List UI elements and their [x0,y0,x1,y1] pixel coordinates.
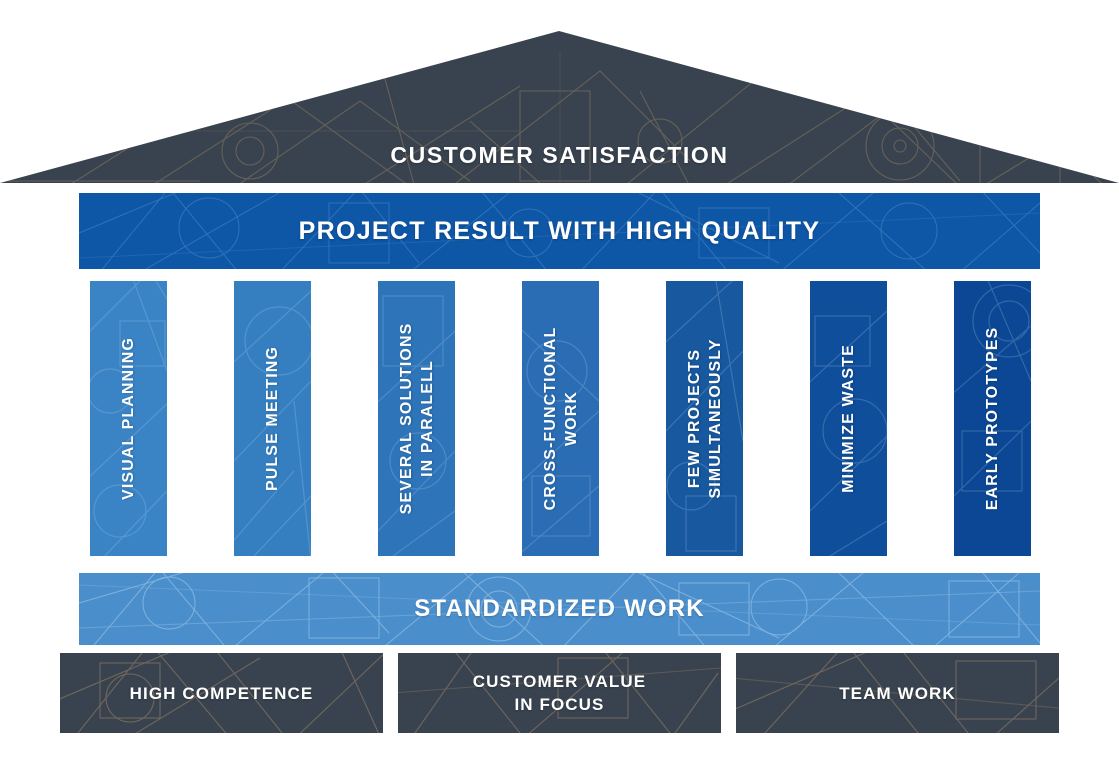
pillar-label: FEW PROJECTS SIMULTANEOUSLY [666,281,743,556]
foundation-block-1[interactable]: HIGH COMPETENCE [60,653,383,733]
pillar-label: VISUAL PLANNING [90,281,167,556]
base-band[interactable]: STANDARDIZED WORK [79,573,1040,645]
roof-shape: CUSTOMER SATISFACTION [0,31,1119,183]
foundation-label: CUSTOMER VALUE IN FOCUS [398,653,721,733]
roof-label: CUSTOMER SATISFACTION [0,141,1119,169]
foundation-label: HIGH COMPETENCE [60,653,383,733]
pillar-2[interactable]: PULSE MEETING [234,281,311,556]
foundation-group: HIGH COMPETENCECUSTOMER VALUE IN FOCUSTE… [60,653,1059,733]
base-band-label: STANDARDIZED WORK [79,573,1040,645]
pillar-label: PULSE MEETING [234,281,311,556]
foundation-label: TEAM WORK [736,653,1059,733]
pillar-label: SEVERAL SOLUTIONS IN PARALELL [378,281,455,556]
lean-house-diagram: CUSTOMER SATISFACTION [0,0,1119,768]
pillar-7[interactable]: EARLY PROTOTYPES [954,281,1031,556]
pillar-label: CROSS-FUNCTIONAL WORK [522,281,599,556]
pillars-group: VISUAL PLANNINGPULSE MEETINGSEVERAL SOLU… [90,281,1031,556]
pillar-3[interactable]: SEVERAL SOLUTIONS IN PARALELL [378,281,455,556]
pillar-5[interactable]: FEW PROJECTS SIMULTANEOUSLY [666,281,743,556]
pillar-label: MINIMIZE WASTE [810,281,887,556]
foundation-block-3[interactable]: TEAM WORK [736,653,1059,733]
foundation-block-2[interactable]: CUSTOMER VALUE IN FOCUS [398,653,721,733]
architrave-band[interactable]: PROJECT RESULT WITH HIGH QUALITY [79,193,1040,269]
pillar-label: EARLY PROTOTYPES [954,281,1031,556]
pillar-4[interactable]: CROSS-FUNCTIONAL WORK [522,281,599,556]
architrave-label: PROJECT RESULT WITH HIGH QUALITY [79,193,1040,269]
pillar-6[interactable]: MINIMIZE WASTE [810,281,887,556]
pillar-1[interactable]: VISUAL PLANNING [90,281,167,556]
